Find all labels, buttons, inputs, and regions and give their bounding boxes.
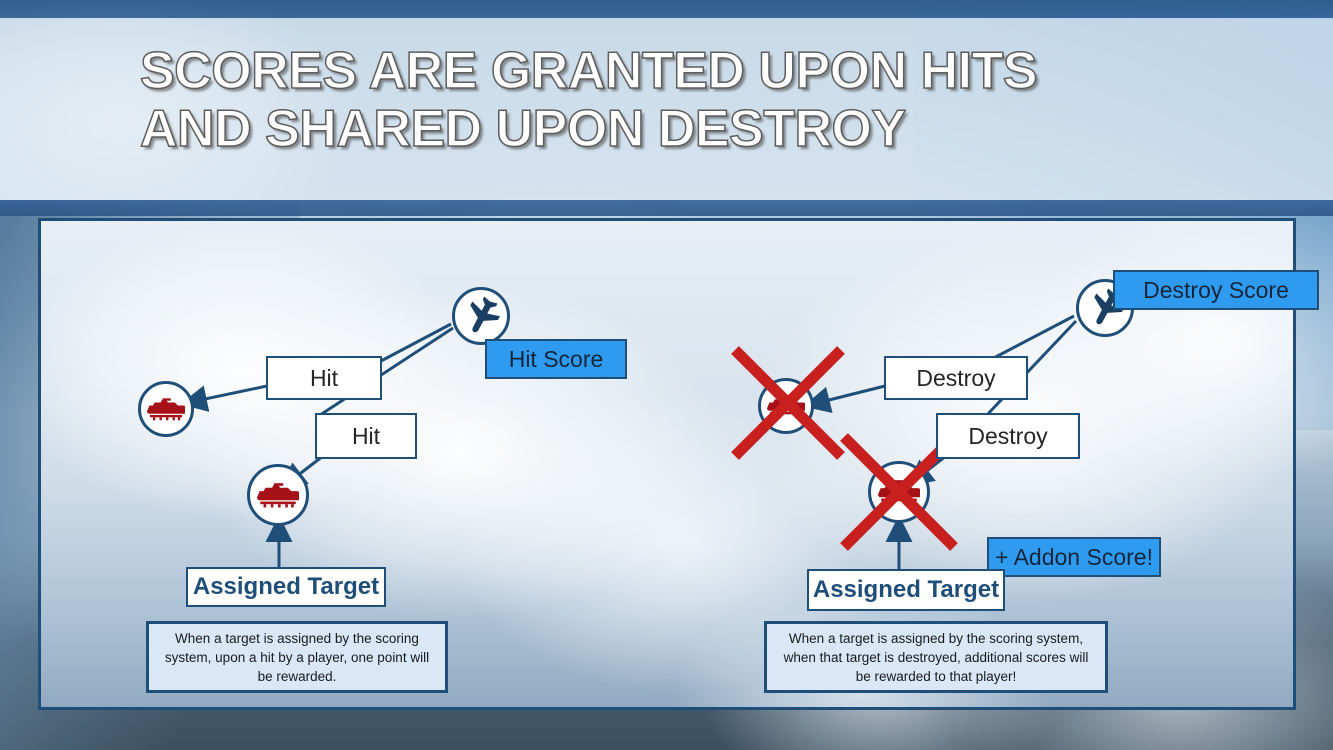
edge-label-destroy-2: Destroy bbox=[936, 413, 1080, 459]
hit-score-badge[interactable]: Hit Score bbox=[485, 339, 627, 379]
armored-vehicle-icon bbox=[257, 481, 299, 509]
armored-target-node-left-1[interactable] bbox=[138, 381, 194, 437]
caption-destroy-rule: When a target is assigned by the scoring… bbox=[764, 621, 1108, 693]
presentation-slide: SCORES ARE GRANTED UPON HITS AND SHARED … bbox=[0, 0, 1333, 750]
edge-label-hit-2: Hit bbox=[315, 413, 417, 459]
edge-label-destroy-1: Destroy bbox=[884, 356, 1028, 400]
title-line-1: SCORES ARE GRANTED UPON HITS bbox=[140, 42, 1037, 100]
content-frame: Hit Hit Hit Score Assigned Target When a… bbox=[38, 218, 1296, 710]
armored-vehicle-icon bbox=[147, 396, 185, 422]
assigned-target-label-right: Assigned Target bbox=[807, 569, 1005, 611]
armored-target-node-left-2[interactable] bbox=[247, 464, 309, 526]
caption-hit-rule: When a target is assigned by the scoring… bbox=[146, 621, 448, 693]
destroyed-x-mark-1 bbox=[729, 344, 847, 462]
fighter-jet-icon bbox=[461, 296, 501, 336]
title-line-2: AND SHARED UPON DESTROY bbox=[140, 100, 1200, 158]
title-band-bottom-accent bbox=[0, 200, 1333, 216]
destroy-score-badge[interactable]: Destroy Score bbox=[1113, 270, 1319, 310]
edge-label-hit-1: Hit bbox=[266, 356, 382, 400]
top-accent-bar bbox=[0, 0, 1333, 18]
assigned-target-label-left: Assigned Target bbox=[186, 567, 386, 607]
content-frame-inner: Hit Hit Hit Score Assigned Target When a… bbox=[41, 221, 1293, 707]
player-plane-node-left[interactable] bbox=[452, 287, 510, 345]
slide-title: SCORES ARE GRANTED UPON HITS AND SHARED … bbox=[140, 42, 1200, 158]
addon-score-badge[interactable]: + Addon Score! bbox=[987, 537, 1161, 577]
